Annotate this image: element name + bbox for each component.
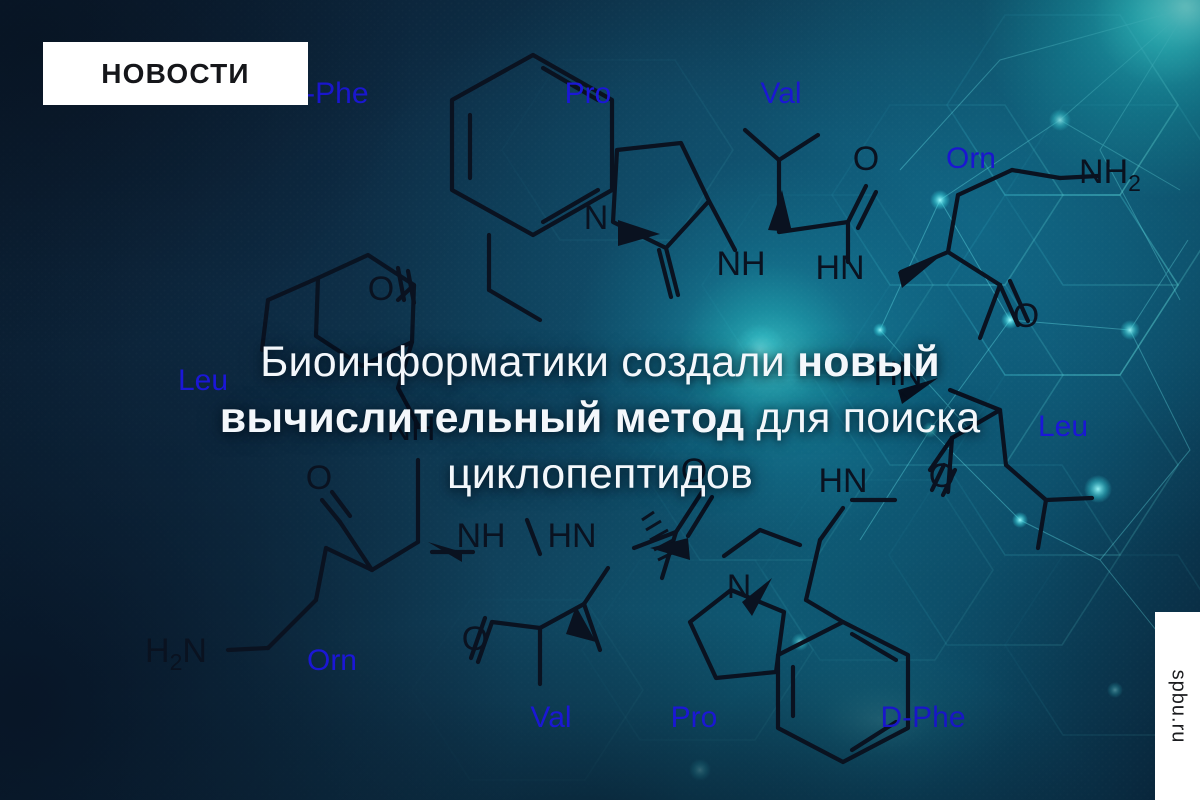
news-badge-label: НОВОСТИ	[101, 58, 249, 90]
page-title: Биоинформатики создали новый вычислитель…	[150, 335, 1050, 503]
watermark-label: spbu.ru	[1166, 669, 1189, 743]
news-banner: NH2H2NNNNHHNHNHNNHNHHNOOOOOOO D-PheProVa…	[0, 0, 1200, 800]
news-badge[interactable]: НОВОСТИ	[43, 42, 308, 105]
headline-part-1: Биоинформатики создали	[260, 338, 797, 386]
watermark-badge: spbu.ru	[1155, 612, 1200, 800]
